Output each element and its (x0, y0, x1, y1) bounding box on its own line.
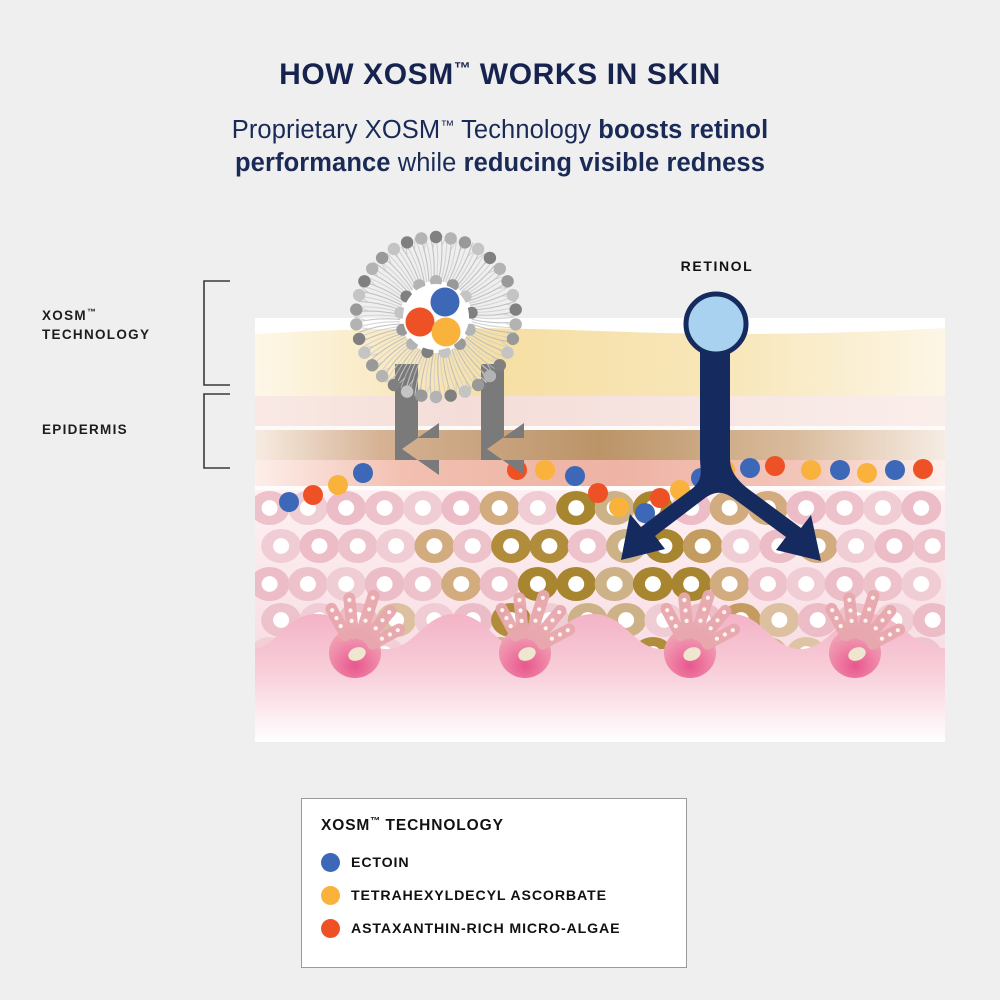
layer-label-xosm-technology: XOSM™ TECHNOLOGY (42, 303, 150, 344)
legend-label-astaxanthin-rich-micro-algae: ASTAXANTHIN-RICH MICRO-ALGAE (351, 921, 620, 937)
legend-swatch-tetrahexyldecyl-ascorbate (321, 886, 340, 905)
page-title: HOW XOSM™ WORKS IN SKIN (0, 58, 1000, 92)
retinol-label-text: RETINOL (681, 258, 754, 274)
core-dot-tetrahexyldecyl (432, 318, 461, 347)
xosm-micelle-graphic (341, 222, 531, 412)
legend-label-ectoin: ECTOIN (351, 855, 409, 871)
layer-label-epidermis: EPIDERMIS (42, 420, 128, 439)
subtitle-plain-1: Proprietary XOSM™ Technology (232, 116, 599, 144)
core-dot-astaxanthin (406, 308, 435, 337)
bracket-epidermis (204, 394, 230, 468)
subtitle-bold-1: boosts retinol (598, 116, 768, 144)
infographic-canvas: HOW XOSM™ WORKS IN SKIN Proprietary XOSM… (0, 0, 1000, 1000)
skin-layer-stratum-granulosum (255, 430, 945, 460)
legend-box: XOSM™ TECHNOLOGY ECTOIN TETRAHEXYLDECYL … (301, 798, 687, 968)
legend-swatch-astaxanthin-rich-micro-algae (321, 919, 340, 938)
retinol-label: RETINOL (612, 258, 822, 274)
subtitle-bold-3: reducing visible redness (464, 149, 765, 177)
legend-item-ectoin: ECTOIN (321, 846, 686, 879)
layer-label-xosm-line1: XOSM™ (42, 303, 150, 325)
retinol-molecule (680, 288, 752, 360)
subtitle-plain-2: while (391, 149, 464, 177)
subtitle-bold-2: performance (235, 149, 391, 177)
layer-brackets (200, 270, 240, 490)
subtitle-line-1: Proprietary XOSM™ Technology boosts reti… (0, 116, 1000, 145)
retinol-circle (686, 294, 746, 354)
legend-title: XOSM™ TECHNOLOGY (321, 816, 686, 835)
layer-label-epidermis-line1: EPIDERMIS (42, 420, 128, 439)
subtitle-line-2: performance while reducing visible redne… (0, 149, 1000, 178)
legend-label-tetrahexyldecyl-ascorbate: TETRAHEXYLDECYL ASCORBATE (351, 888, 607, 904)
legend-item-astaxanthin-rich-micro-algae: ASTAXANTHIN-RICH MICRO-ALGAE (321, 912, 686, 945)
layer-label-xosm-line2: TECHNOLOGY (42, 325, 150, 344)
bracket-xosm-technology (204, 281, 230, 385)
legend-swatch-ectoin (321, 853, 340, 872)
core-dot-ectoin (431, 288, 460, 317)
page-title-text: HOW XOSM™ WORKS IN SKIN (279, 58, 721, 91)
legend-title-text: XOSM™ TECHNOLOGY (321, 817, 504, 834)
legend-item-tetrahexyldecyl-ascorbate: TETRAHEXYLDECYL ASCORBATE (321, 879, 686, 912)
